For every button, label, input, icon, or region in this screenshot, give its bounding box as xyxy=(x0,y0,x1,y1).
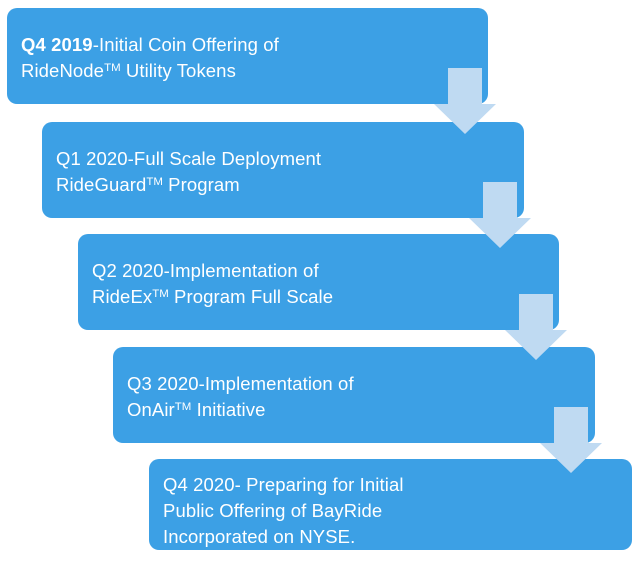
step-line-1-q4-2020: Q4 2020- Preparing for Initial xyxy=(163,474,404,495)
trademark-icon: TM xyxy=(152,288,169,300)
step-line-2-suffix-q3-2020: Initiative xyxy=(191,399,265,420)
step-box-q4-2019[interactable]: Q4 2019-Initial Coin Offering ofRideNode… xyxy=(7,8,488,104)
step-line-1-q4-2019: -Initial Coin Offering of xyxy=(93,34,279,55)
step-line-2-q3-2020: OnAir xyxy=(127,399,175,420)
step-text-q4-2020: Q4 2020- Preparing for InitialPublic Off… xyxy=(149,472,632,550)
roadmap-diagram: Q4 2019-Initial Coin Offering ofRideNode… xyxy=(0,0,640,568)
step-box-q2-2020[interactable]: Q2 2020-Implementation ofRideExTM Progra… xyxy=(78,234,559,330)
trademark-icon: TM xyxy=(146,176,163,188)
step-box-q4-2020[interactable]: Q4 2020- Preparing for InitialPublic Off… xyxy=(149,459,632,550)
step-box-q3-2020[interactable]: Q3 2020-Implementation ofOnAirTM Initiat… xyxy=(113,347,595,443)
step-period-q4-2019: Q4 2019 xyxy=(21,34,93,55)
step-text-q1-2020: Q1 2020-Full Scale DeploymentRideGuardTM… xyxy=(42,146,524,201)
step-line-2-q1-2020: RideGuard xyxy=(56,174,146,195)
step-line-1-q1-2020: Q1 2020-Full Scale Deployment xyxy=(56,148,321,169)
step-text-q2-2020: Q2 2020-Implementation ofRideExTM Progra… xyxy=(78,258,559,313)
step-line-2-q2-2020: RideEx xyxy=(92,286,152,307)
step-line-1-q2-2020: Q2 2020-Implementation of xyxy=(92,260,319,281)
step-line-2-suffix-q2-2020: Program Full Scale xyxy=(169,286,333,307)
step-line-2-q4-2019: RideNode xyxy=(21,60,104,81)
step-line-1-q3-2020: Q3 2020-Implementation of xyxy=(127,373,354,394)
step-line-2-suffix-q1-2020: Program xyxy=(163,174,240,195)
step-line-3-q4-2020: Incorporated on NYSE. xyxy=(163,526,355,547)
step-box-q1-2020[interactable]: Q1 2020-Full Scale DeploymentRideGuardTM… xyxy=(42,122,524,218)
step-line-2-q4-2020: Public Offering of BayRide xyxy=(163,500,382,521)
trademark-icon: TM xyxy=(175,401,192,413)
step-text-q3-2020: Q3 2020-Implementation ofOnAirTM Initiat… xyxy=(113,371,595,426)
step-line-2-suffix-q4-2019: Utility Tokens xyxy=(121,60,236,81)
step-text-q4-2019: Q4 2019-Initial Coin Offering ofRideNode… xyxy=(7,32,488,87)
trademark-icon: TM xyxy=(104,62,121,74)
